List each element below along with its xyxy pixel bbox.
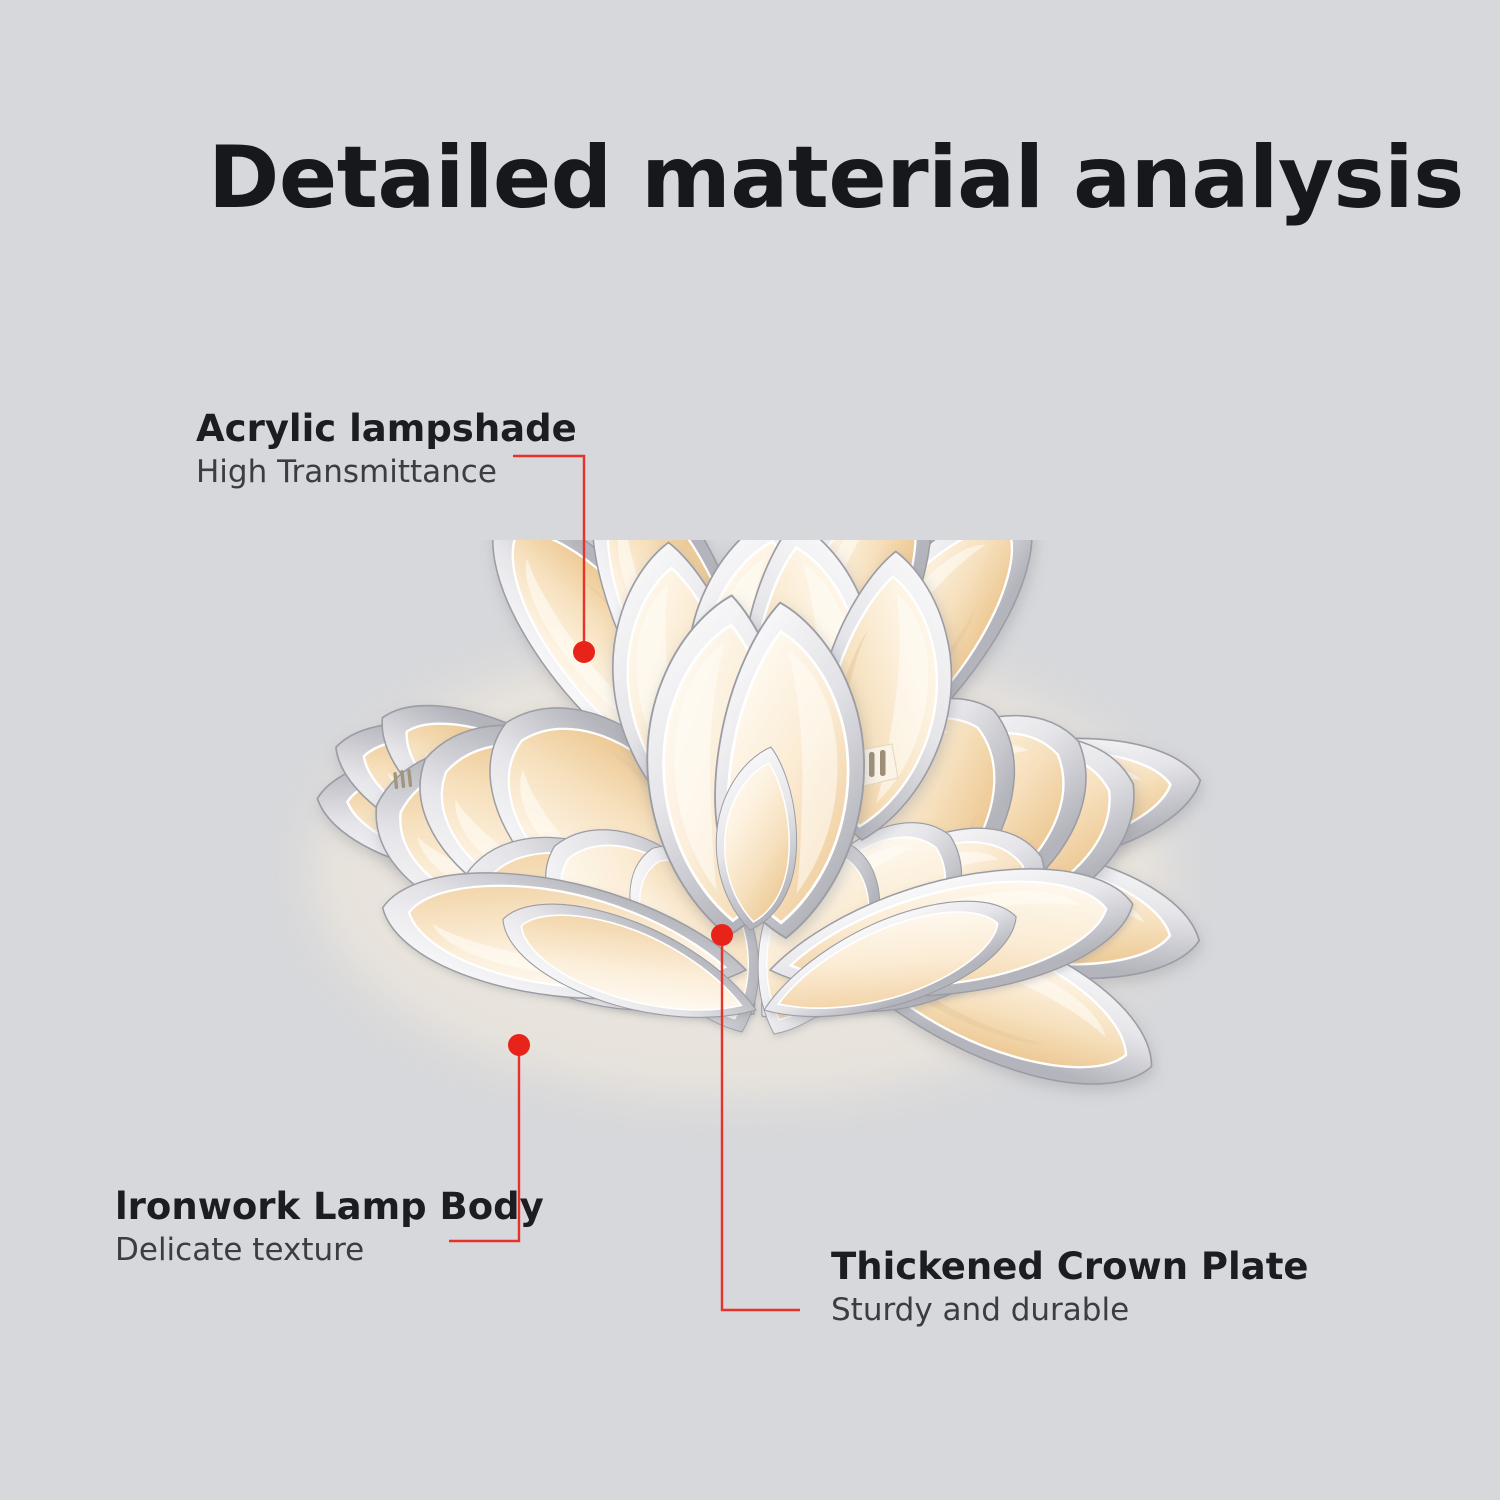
infographic-canvas: Detailed material analysis xyxy=(0,0,1500,1500)
annotation-title: Thickened Crown Plate xyxy=(831,1246,1308,1289)
annotation-ironwork-lamp-body: lronwork Lamp Body Delicate texture xyxy=(115,1186,544,1269)
product-image-ceiling-lamp: .rimOuter { fill: url(#gRim); stroke:#9b… xyxy=(150,540,1360,1170)
annotation-acrylic-lampshade: Acrylic lampshade High Transmittance xyxy=(196,408,577,491)
annotation-subtitle: Sturdy and durable xyxy=(831,1292,1308,1329)
annotation-title: Acrylic lampshade xyxy=(196,408,577,451)
annotation-subtitle: High Transmittance xyxy=(196,454,577,491)
annotation-title: lronwork Lamp Body xyxy=(115,1186,544,1229)
page-title: Detailed material analysis xyxy=(208,133,1328,223)
annotation-thickened-crown-plate: Thickened Crown Plate Sturdy and durable xyxy=(831,1246,1308,1329)
annotation-subtitle: Delicate texture xyxy=(115,1232,544,1269)
